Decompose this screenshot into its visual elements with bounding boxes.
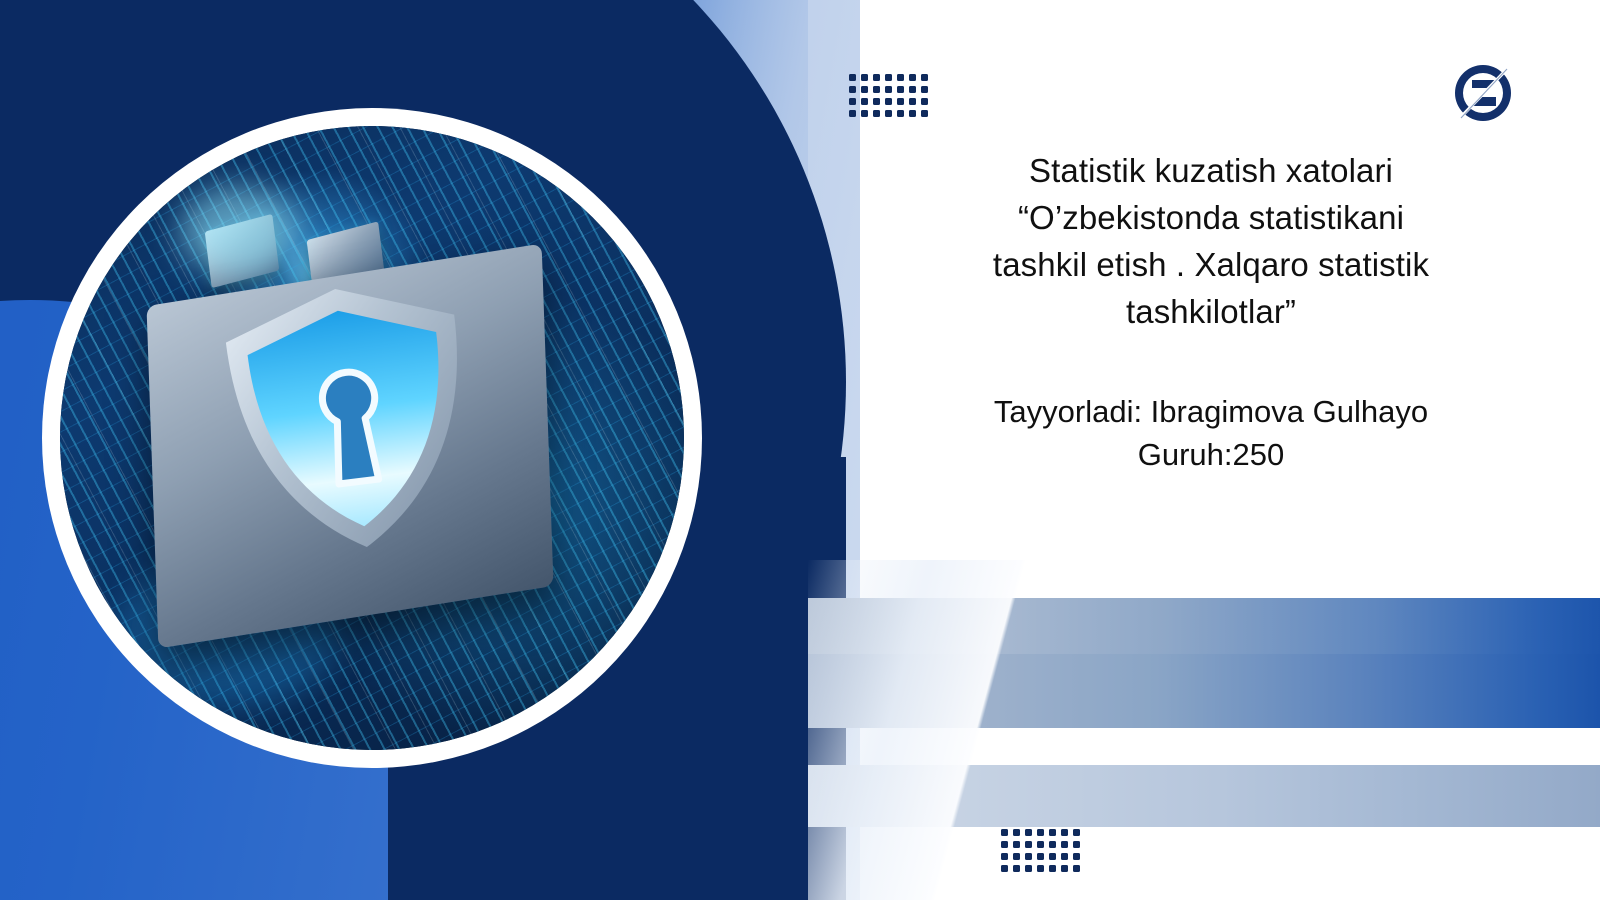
title-line-4: tashkilotlar”	[1126, 293, 1296, 330]
title-line-3: tashkil etish . Xalqaro statistik	[993, 246, 1429, 283]
byline-author: Tayyorladi: Ibragimova Gulhayo	[994, 394, 1428, 429]
dot-grid-top-icon	[849, 74, 929, 118]
slide-text-column: Statistik kuzatish xatolari“O’zbekistond…	[938, 148, 1484, 476]
accent-bar-bottom	[808, 765, 1600, 827]
title-line-1: Statistik kuzatish xatolari	[1029, 152, 1393, 189]
accent-bar-middle	[808, 654, 1600, 728]
shield-lock-icon	[213, 270, 490, 566]
dot-grid-bottom-icon	[1001, 829, 1081, 873]
accent-bar-top	[808, 598, 1600, 654]
byline-group: Guruh:250	[1138, 437, 1285, 472]
page-title: Statistik kuzatish xatolari“O’zbekistond…	[938, 148, 1484, 335]
cybersecurity-shield-circuit-board-photo	[60, 126, 684, 750]
organization-monogram-logo-icon	[1452, 62, 1514, 124]
title-line-2: “O’zbekistonda statistikani	[1018, 199, 1404, 236]
presentation-slide: Statistik kuzatish xatolari“O’zbekistond…	[0, 0, 1600, 900]
author-byline: Tayyorladi: Ibragimova GulhayoGuruh:250	[938, 335, 1484, 476]
